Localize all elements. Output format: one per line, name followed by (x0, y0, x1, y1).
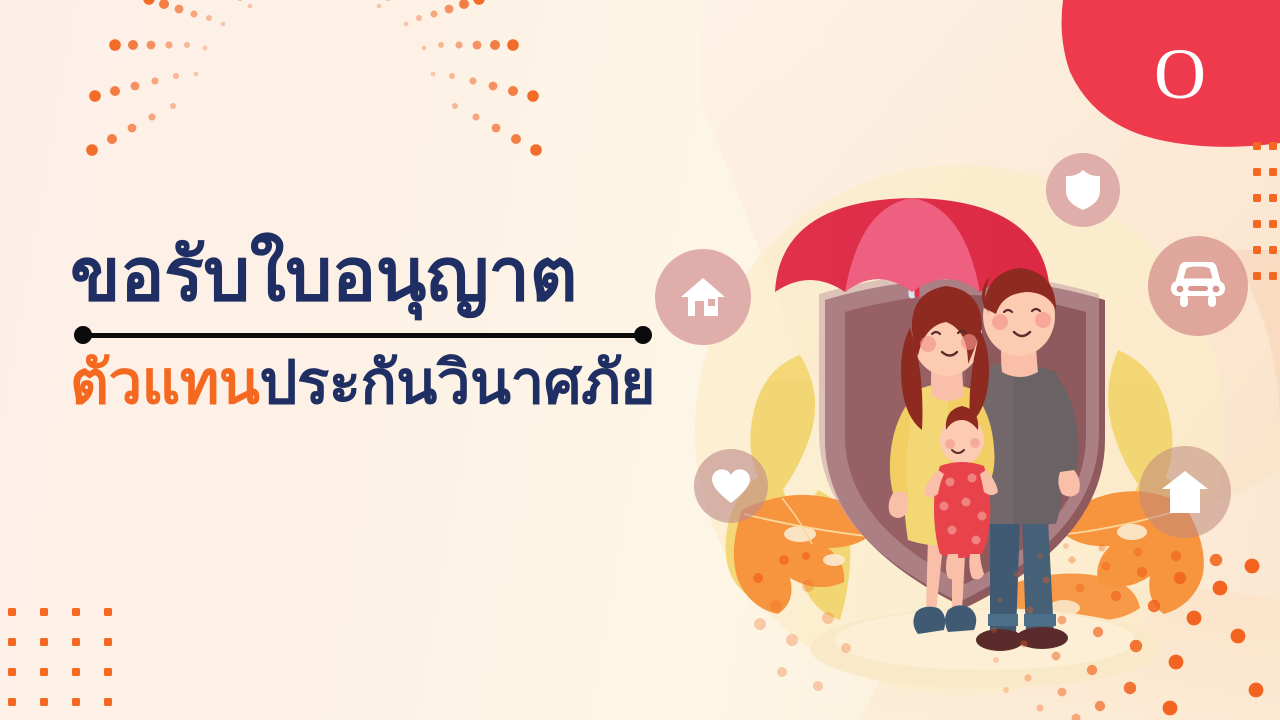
car-icon-bubble[interactable] (1148, 236, 1248, 336)
headline-block: ขอรับใบอนุญาต ตัวแทนประกันวินาศภัย (70, 236, 670, 416)
heart-icon (711, 468, 751, 504)
headline-secondary: ตัวแทนประกันวินาศภัย (70, 350, 670, 416)
shield-backdrop (819, 273, 1105, 608)
headline-divider (74, 326, 652, 344)
umbrella (775, 198, 1050, 295)
father-figure (952, 268, 1080, 651)
divider-knob-right (634, 326, 652, 344)
insurance-agent-license-banner: O (0, 0, 1280, 720)
headline-secondary-accent: ตัวแทน (70, 349, 259, 416)
house-roof-icon-bubble[interactable] (1139, 446, 1231, 538)
headline-secondary-rest: ประกันวินาศภัย (259, 349, 655, 416)
baby-figure (924, 406, 998, 579)
shield-icon (1065, 169, 1101, 211)
mother-figure (889, 286, 995, 634)
divider-bar (81, 333, 645, 338)
home-icon (679, 275, 727, 319)
headline-primary: ขอรับใบอนุญาต (70, 236, 670, 314)
shield-icon-bubble[interactable] (1046, 153, 1120, 227)
ground-ellipse (810, 608, 1160, 688)
leaf-orange-bottom (991, 574, 1140, 677)
heart-icon-bubble[interactable] (694, 449, 768, 523)
car-icon (1169, 262, 1227, 310)
house-roof-icon (1160, 469, 1210, 515)
brand-letter-o: O (1152, 36, 1208, 112)
